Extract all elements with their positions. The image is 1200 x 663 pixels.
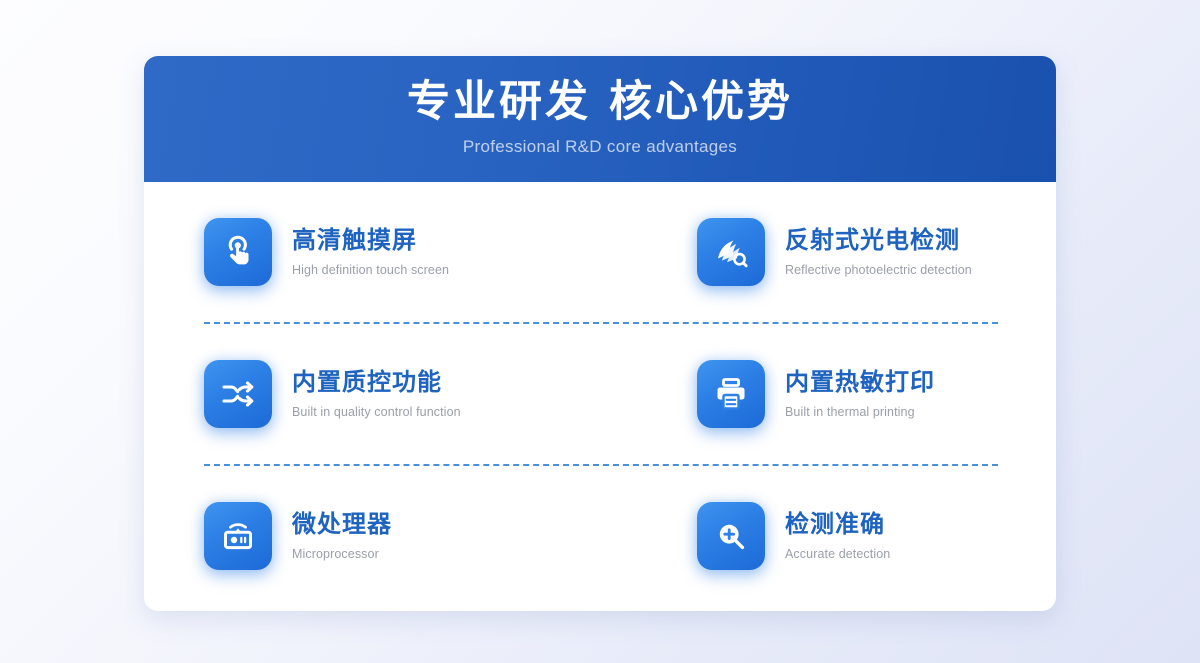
feature-item-accurate-detection[interactable]: 检测准确 Accurate detection <box>601 502 998 570</box>
feature-divider <box>204 322 998 324</box>
feature-text: 微处理器 Microprocessor <box>292 511 392 561</box>
microprocessor-icon <box>204 502 272 570</box>
feature-subtitle: Accurate detection <box>785 547 890 561</box>
feature-divider <box>204 464 998 466</box>
feature-title: 反射式光电检测 <box>785 227 972 256</box>
magnifier-plus-icon <box>697 502 765 570</box>
feature-title: 内置热敏打印 <box>785 369 935 398</box>
feature-subtitle: Built in thermal printing <box>785 405 935 419</box>
features-body: 高清触摸屏 High definition touch screen 反射式光电… <box>144 182 1056 611</box>
feature-row: 高清触摸屏 High definition touch screen 反射式光电… <box>144 182 1056 322</box>
feature-item-quality-control[interactable]: 内置质控功能 Built in quality control function <box>204 360 601 428</box>
page-title-part1: 专业研发 <box>407 77 591 127</box>
shuffle-arrows-icon <box>204 360 272 428</box>
feature-title: 检测准确 <box>785 511 890 540</box>
feature-subtitle: Built in quality control function <box>292 405 461 419</box>
feature-item-thermal-printing[interactable]: 内置热敏打印 Built in thermal printing <box>601 360 998 428</box>
feature-text: 内置质控功能 Built in quality control function <box>292 369 461 419</box>
page-title: 专业研发核心优势 <box>144 78 1056 127</box>
feature-text: 反射式光电检测 Reflective photoelectric detecti… <box>785 227 972 277</box>
advantages-panel: 专业研发核心优势 Professional R&D core advantage… <box>144 56 1056 611</box>
feature-item-microprocessor[interactable]: 微处理器 Microprocessor <box>204 502 601 570</box>
feature-row: 内置质控功能 Built in quality control function… <box>144 324 1056 464</box>
feature-item-reflective-photoelectric[interactable]: 反射式光电检测 Reflective photoelectric detecti… <box>601 218 998 286</box>
printer-icon <box>697 360 765 428</box>
page-title-part2: 核心优势 <box>609 77 793 127</box>
feature-row: 微处理器 Microprocessor 检测准确 Accurate detect… <box>144 466 1056 606</box>
feature-subtitle: Reflective photoelectric detection <box>785 263 972 277</box>
page-subtitle: Professional R&D core advantages <box>144 137 1056 157</box>
touch-screen-icon <box>204 218 272 286</box>
feature-title: 内置质控功能 <box>292 369 461 398</box>
reflective-photoelectric-icon <box>697 218 765 286</box>
feature-text: 检测准确 Accurate detection <box>785 511 890 561</box>
feature-item-touch-screen[interactable]: 高清触摸屏 High definition touch screen <box>204 218 601 286</box>
feature-subtitle: Microprocessor <box>292 547 392 561</box>
feature-text: 内置热敏打印 Built in thermal printing <box>785 369 935 419</box>
panel-header: 专业研发核心优势 Professional R&D core advantage… <box>144 56 1056 182</box>
feature-title: 高清触摸屏 <box>292 227 449 256</box>
feature-title: 微处理器 <box>292 511 392 540</box>
feature-text: 高清触摸屏 High definition touch screen <box>292 227 449 277</box>
feature-subtitle: High definition touch screen <box>292 263 449 277</box>
